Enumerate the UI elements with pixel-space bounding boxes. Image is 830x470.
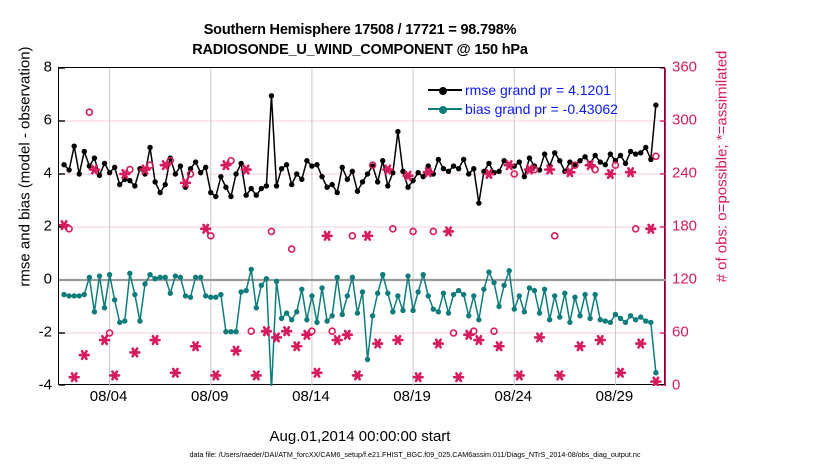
page-title-line2: RADIOSONDE_U_WIND_COMPONENT @ 150 hPa xyxy=(0,42,720,58)
chart-page: Southern Hemisphere 17508 / 17721 = 98.7… xyxy=(0,0,830,470)
page-title-line1: Southern Hemisphere 17508 / 17721 = 98.7… xyxy=(0,22,720,38)
right-tick-label: 0 xyxy=(672,377,680,394)
left-tick-label: 2 xyxy=(44,218,52,235)
left-tick-label: 4 xyxy=(44,165,52,182)
x-tick-label: 08/04 xyxy=(90,388,128,405)
right-tick-label: 240 xyxy=(672,165,697,182)
legend-label-bias: bias grand pr = -0.43062 xyxy=(465,101,618,117)
legend-swatch-bias xyxy=(428,108,462,110)
x-tick-label: 08/09 xyxy=(191,388,229,405)
left-tick-label: 0 xyxy=(44,271,52,288)
right-tick-label: 120 xyxy=(672,271,697,288)
right-tick-label: 300 xyxy=(672,112,697,129)
left-tick-label: 6 xyxy=(44,112,52,129)
legend-item-rmse[interactable]: rmse grand pr = 4.1201 xyxy=(428,80,618,99)
left-tick-label: 8 xyxy=(44,59,52,76)
data-file-path: data file: /Users/raeder/DAI/ATM_forcXX/… xyxy=(0,450,830,459)
x-axis-ticks: 08/0408/0908/1408/1908/2408/29 xyxy=(58,388,665,410)
legend-swatch-rmse xyxy=(428,89,462,91)
right-tick-label: 60 xyxy=(672,324,689,341)
left-axis-label: rmse and bias (model - observation) xyxy=(17,8,34,326)
right-tick-label: 360 xyxy=(672,59,697,76)
legend-item-bias[interactable]: bias grand pr = -0.43062 xyxy=(428,99,618,118)
legend-label-rmse: rmse grand pr = 4.1201 xyxy=(465,82,611,98)
right-axis-label: # of obs: o=possible; *=assimilated xyxy=(714,8,731,326)
x-tick-label: 08/14 xyxy=(292,388,330,405)
left-tick-label: -2 xyxy=(39,324,52,341)
legend: rmse grand pr = 4.1201 bias grand pr = -… xyxy=(428,80,618,118)
x-tick-label: 08/19 xyxy=(393,388,431,405)
left-tick-label: -4 xyxy=(39,377,52,394)
x-axis-caption: Aug.01,2014 00:00:00 start xyxy=(0,428,720,445)
x-tick-label: 08/24 xyxy=(494,388,532,405)
x-tick-label: 08/29 xyxy=(596,388,634,405)
right-tick-label: 180 xyxy=(672,218,697,235)
